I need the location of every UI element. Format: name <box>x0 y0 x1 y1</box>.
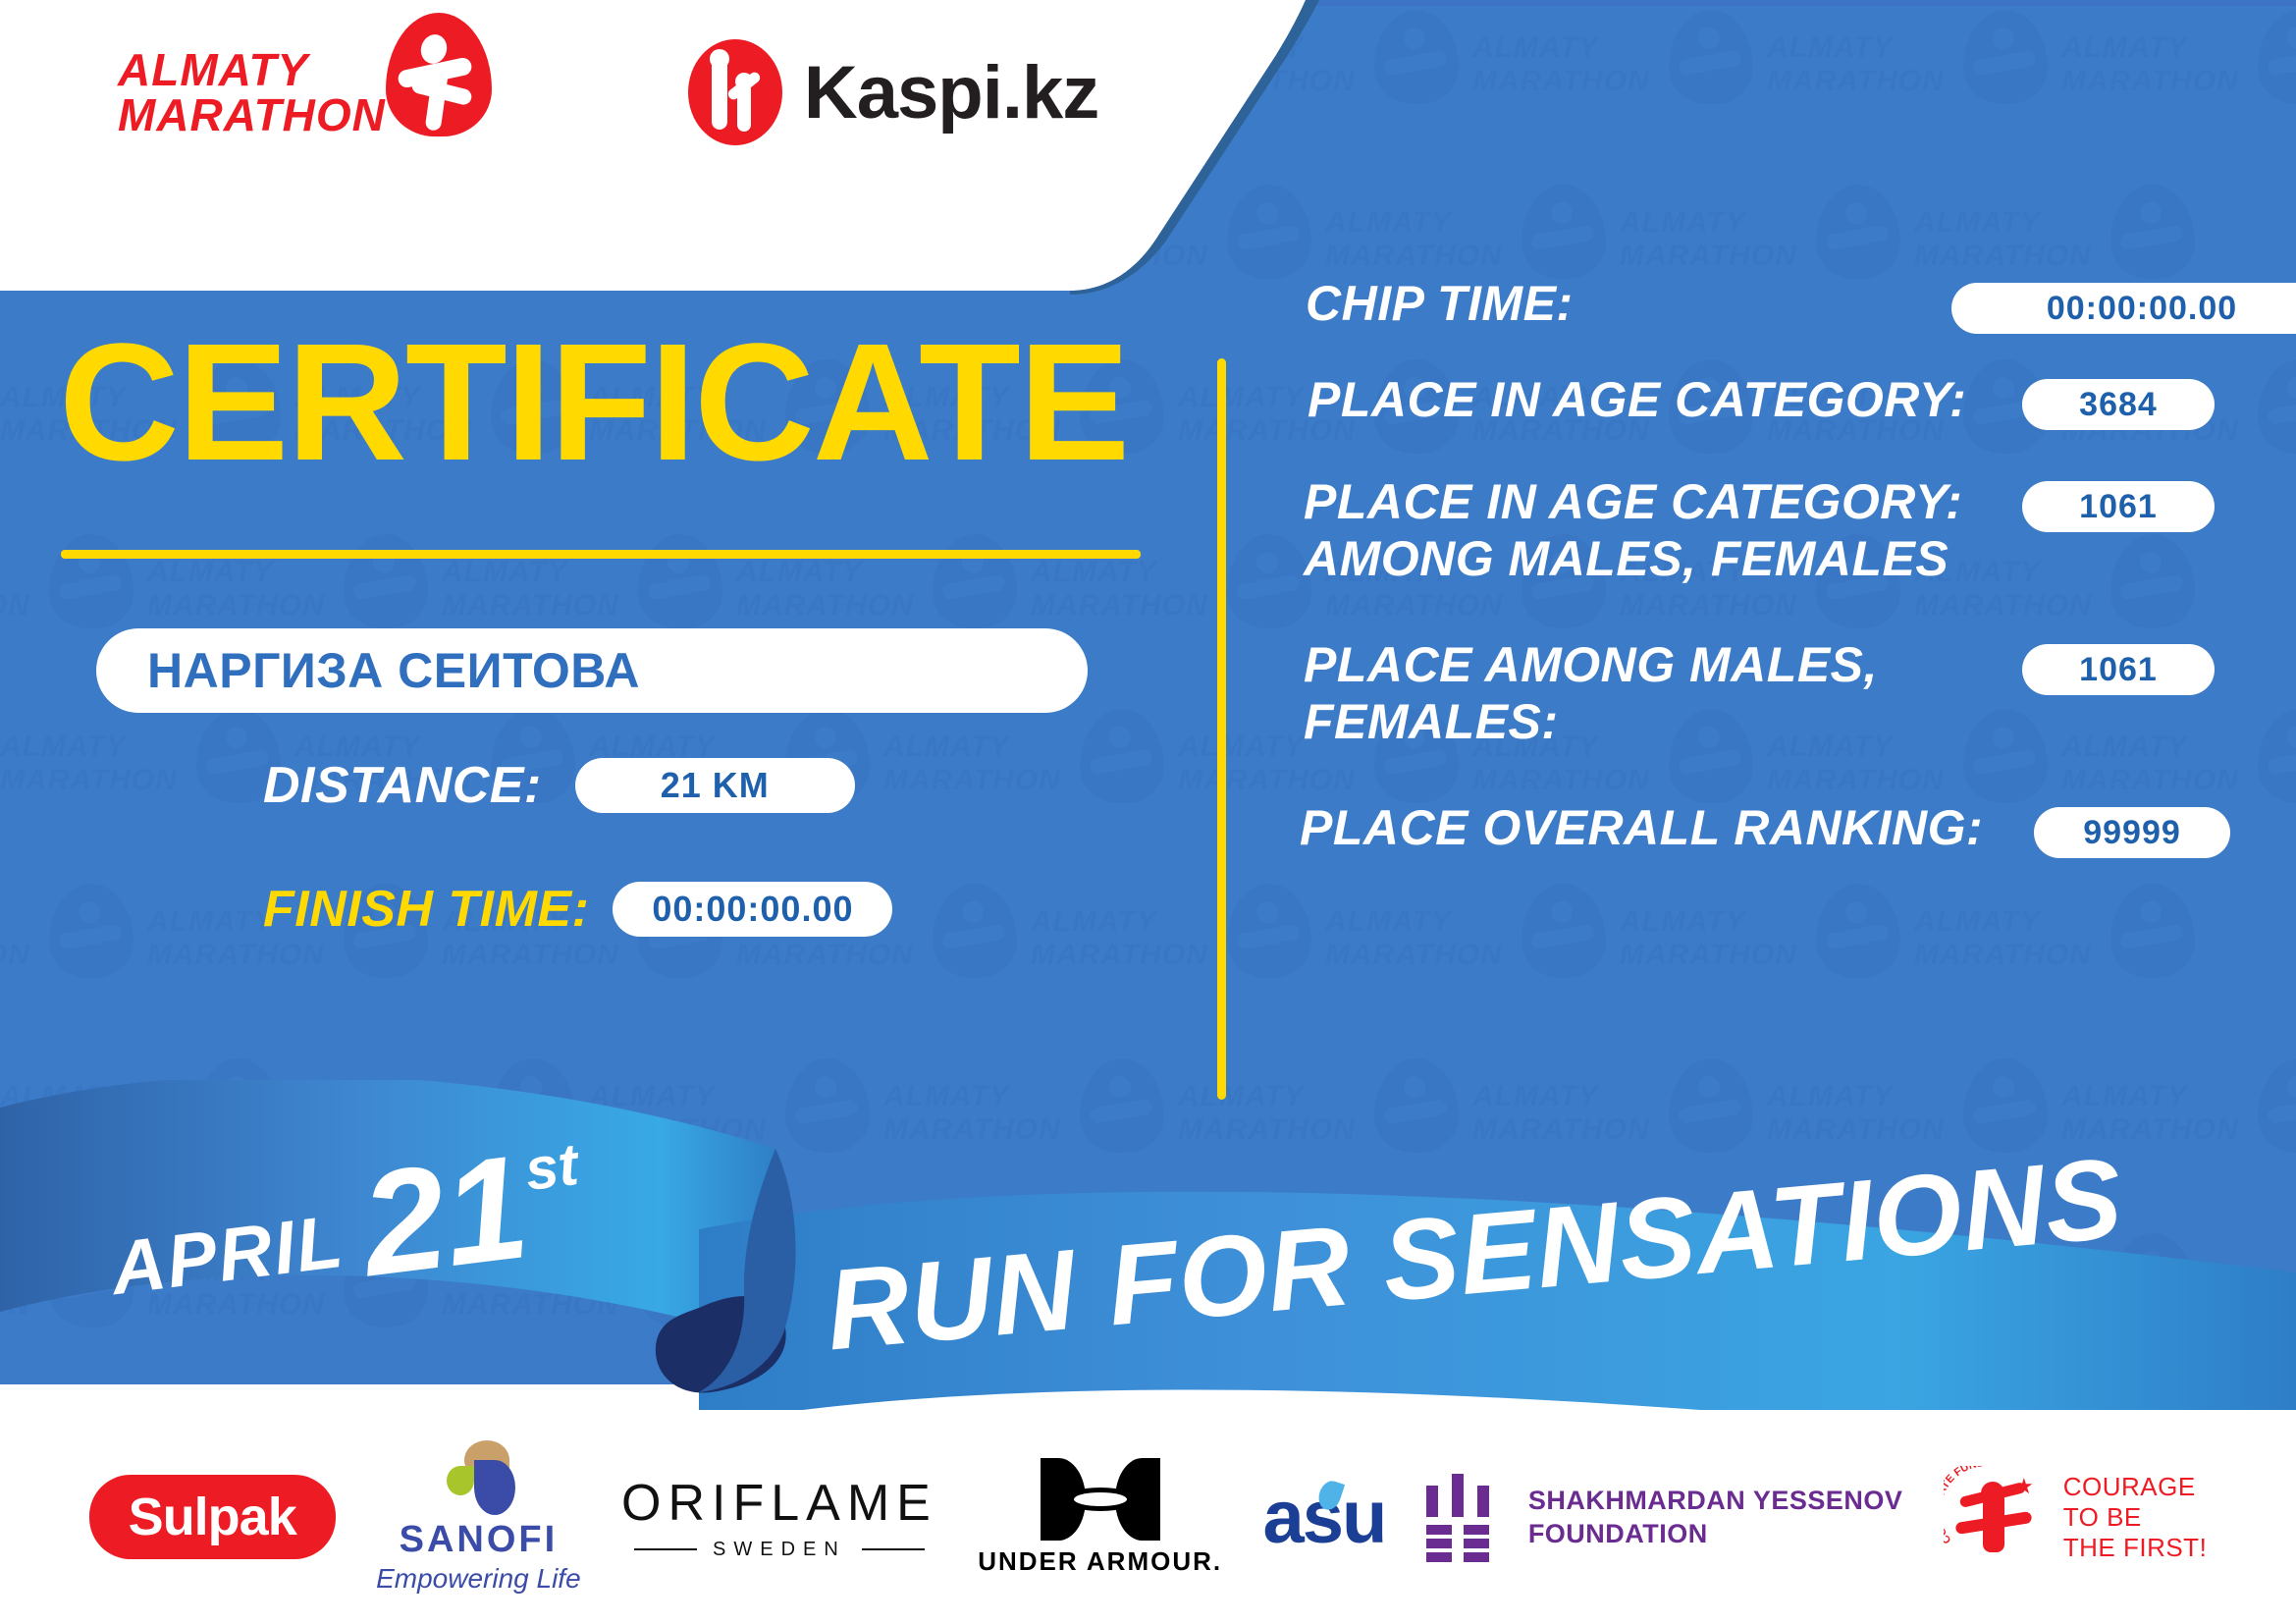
under-armour-icon <box>1041 1458 1160 1541</box>
sanofi-wordmark: SANOFI <box>400 1519 559 1561</box>
watermark-runner-icon <box>1963 709 2048 803</box>
participant-name-field[interactable]: НАРГИЗА СЕИТОВА <box>96 628 1088 713</box>
watermark-tile: ALMATYMARATHON <box>1620 181 1914 338</box>
place-age-category-value[interactable]: 3684 <box>2022 379 2215 430</box>
distance-label: DISTANCE: <box>263 756 542 815</box>
watermark-label: ALMATYMARATHON <box>0 731 178 797</box>
corporate-fund-slogan-line1: COURAGE <box>2063 1472 2208 1502</box>
place-age-category-among-label-line2: AMONG MALES, FEMALES <box>1304 530 1949 587</box>
corporate-fund-slogan-line3: THE FIRST! <box>2063 1533 2208 1563</box>
watermark-label: ALMATYMARATHON <box>883 731 1061 797</box>
watermark-runner-icon <box>933 884 1017 978</box>
place-overall-ranking-value[interactable]: 99999 <box>2034 807 2230 858</box>
finish-time-value[interactable]: 00:00:00.00 <box>613 882 892 937</box>
sponsor-sanofi[interactable]: SANOFI Empowering Life <box>376 1440 581 1595</box>
sanofi-tagline: Empowering Life <box>376 1563 581 1595</box>
sanofi-icon <box>441 1440 515 1517</box>
watermark-runner-icon <box>344 534 428 628</box>
kaspi-child-body-icon <box>737 82 751 132</box>
watermark-label: ALMATYMARATHON <box>736 556 914 623</box>
watermark-runner-icon <box>1963 10 2048 104</box>
kaspi-logo[interactable]: Kaspi.kz <box>688 39 1098 145</box>
watermark-runner-icon <box>933 534 1017 628</box>
watermark-tile: ALMATYMARATHON <box>1031 880 1325 1037</box>
watermark-runner-icon <box>638 534 722 628</box>
yessenov-icon <box>1426 1474 1499 1560</box>
kaspi-people-icon <box>688 39 782 145</box>
corporate-fund-slogan: COURAGE TO BE THE FIRST! <box>2063 1472 2208 1563</box>
oriflame-wordmark: ORIFLAME <box>621 1474 937 1533</box>
logo-line-almaty: ALMATY <box>118 47 386 92</box>
place-among-males-females-label-line2: FEMALES: <box>1304 693 1559 750</box>
watermark-tile: ALMATYMARATHON <box>1620 880 1914 1037</box>
participant-name-value: НАРГИЗА СЕИТОВА <box>147 642 640 699</box>
watermark-tile: ALMATYMARATHON <box>0 705 294 862</box>
watermark-runner-icon <box>1227 534 1311 628</box>
watermark-runner-icon <box>1816 185 1900 279</box>
watermark-runner-icon <box>2258 10 2296 104</box>
watermark-label: ALMATYMARATHON <box>147 556 325 623</box>
logo-line-marathon: MARATHON <box>118 92 386 137</box>
corporate-fund-slogan-line2: TO BE <box>2063 1502 2208 1533</box>
watermark-runner-icon <box>1227 884 1311 978</box>
header-logos: ALMATY MARATHON Kaspi.kz <box>118 39 1098 145</box>
place-age-category-row: PLACE IN AGE CATEGORY: <box>1308 371 1966 428</box>
yessenov-wordmark-line1: SHAKHMARDAN YESSENOV <box>1528 1484 1903 1517</box>
almaty-marathon-logo-wordmark: ALMATY MARATHON <box>118 47 386 137</box>
asu-wordmark: asu <box>1262 1475 1385 1560</box>
watermark-runner-icon <box>2110 185 2195 279</box>
distance-value[interactable]: 21 KM <box>575 758 855 813</box>
watermark-label: ALMATYMARATHON <box>1914 905 2092 972</box>
event-day-suffix: st <box>521 1130 581 1204</box>
watermark-label: ALMATYMARATHON <box>0 556 30 623</box>
watermark-tile: ALMATYMARATHON <box>2061 6 2296 163</box>
watermark-runner-icon <box>2258 709 2296 803</box>
under-armour-wordmark: UNDER ARMOUR. <box>978 1546 1222 1577</box>
watermark-tile: ALMATYMARATHON <box>1767 6 2061 163</box>
place-overall-ranking-label: PLACE OVERALL RANKING: <box>1300 799 1983 856</box>
watermark-tile: ALMATYMARATHON <box>0 880 147 1037</box>
place-among-males-females-row: PLACE AMONG MALES, FEMALES: <box>1304 636 1878 750</box>
sponsor-sulpak[interactable]: Sulpak <box>89 1475 336 1559</box>
event-month: APRIL <box>106 1199 348 1312</box>
event-day: 21 <box>355 1142 533 1288</box>
watermark-label: ALMATYMARATHON <box>442 556 619 623</box>
place-age-category-among-row: PLACE IN AGE CATEGORY: AMONG MALES, FEMA… <box>1304 473 1962 587</box>
watermark-runner-icon <box>2110 884 2195 978</box>
distance-row: DISTANCE: 21 KM <box>263 756 855 815</box>
watermark-label: ALMATYMARATHON <box>1767 31 1945 98</box>
oriflame-subline: SWEDEN <box>634 1539 925 1561</box>
yessenov-wordmark-line2: FOUNDATION <box>1528 1517 1903 1550</box>
oriflame-tagline: SWEDEN <box>713 1539 846 1561</box>
watermark-label: ALMATYMARATHON <box>1325 905 1503 972</box>
place-overall-ranking-row: PLACE OVERALL RANKING: <box>1300 799 1983 856</box>
watermark-tile: ALMATYMARATHON <box>1325 880 1620 1037</box>
watermark-label: ALMATYMARATHON <box>1031 905 1208 972</box>
place-age-category-among-value[interactable]: 1061 <box>2022 481 2215 532</box>
watermark-label: ALMATYMARATHON <box>2061 31 2239 98</box>
watermark-label: ALMATYMARATHON <box>1620 206 1797 273</box>
sponsors-bar: Sulpak SANOFI Empowering Life ORIFLAME S… <box>0 1410 2296 1624</box>
watermark-tile: ALMATYMARATHON <box>1914 880 2209 1037</box>
kaspi-wordmark: Kaspi.kz <box>804 50 1098 135</box>
sponsor-under-armour[interactable]: UNDER ARMOUR. <box>978 1458 1222 1577</box>
watermark-label: ALMATYMARATHON <box>2061 731 2239 797</box>
watermark-label: ALMATYMARATHON <box>0 905 30 972</box>
sulpak-wordmark: Sulpak <box>89 1475 336 1559</box>
watermark-runner-icon <box>1080 709 1164 803</box>
watermark-label: ALMATYMARATHON <box>1031 556 1208 623</box>
column-divider <box>1217 358 1226 1100</box>
watermark-runner-icon <box>1522 185 1606 279</box>
watermark-label: ALMATYMARATHON <box>1472 31 1650 98</box>
oriflame-rule-right <box>862 1548 925 1550</box>
yessenov-wordmark: SHAKHMARDAN YESSENOV FOUNDATION <box>1528 1484 1903 1550</box>
sponsor-asu[interactable]: asu <box>1262 1475 1385 1560</box>
chip-time-value[interactable]: 00:00:00.00 <box>1951 283 2296 334</box>
oriflame-rule-left <box>634 1548 697 1550</box>
watermark-runner-icon <box>1816 884 1900 978</box>
watermark-runner-icon <box>2258 359 2296 454</box>
watermark-runner-icon <box>2110 534 2195 628</box>
place-among-males-females-label-line1: PLACE AMONG MALES, <box>1304 636 1878 693</box>
watermark-label: ALMATYMARATHON <box>1914 206 2092 273</box>
watermark-runner-icon <box>1669 10 1753 104</box>
watermark-runner-icon <box>1522 884 1606 978</box>
watermark-runner-icon <box>49 534 133 628</box>
watermark-tile: ALMATYMARATHON <box>883 705 1178 862</box>
kaspi-adult-body-icon <box>712 57 727 130</box>
sponsor-yessenov-foundation[interactable]: SHAKHMARDAN YESSENOV FOUNDATION <box>1426 1474 1903 1560</box>
place-among-males-females-value[interactable]: 1061 <box>2022 644 2215 695</box>
page-title: CERTIFICATE <box>59 319 1128 486</box>
certificate-canvas: ALMATYMARATHONALMATYMARATHONALMATYMARATH… <box>0 0 2296 1624</box>
place-age-category-among-label-line1: PLACE IN AGE CATEGORY: <box>1304 473 1962 530</box>
title-underline <box>61 550 1141 559</box>
watermark-runner-icon <box>49 884 133 978</box>
sponsor-corporate-fund[interactable]: CORPORATE FUND ★ COURAGE TO BE THE FIRST… <box>1944 1466 2208 1568</box>
corporate-fund-icon: CORPORATE FUND ★ <box>1944 1466 2046 1568</box>
watermark-label: ALMATYMARATHON <box>1620 905 1797 972</box>
place-age-category-label: PLACE IN AGE CATEGORY: <box>1308 371 1966 428</box>
sponsor-oriflame[interactable]: ORIFLAME SWEDEN <box>621 1474 937 1561</box>
almaty-marathon-logo[interactable]: ALMATY MARATHON <box>118 47 492 137</box>
finish-time-label: FINISH TIME: <box>263 880 589 939</box>
finish-time-row: FINISH TIME: 00:00:00.00 <box>263 880 892 939</box>
watermark-tile: ALMATYMARATHON <box>1472 6 1767 163</box>
